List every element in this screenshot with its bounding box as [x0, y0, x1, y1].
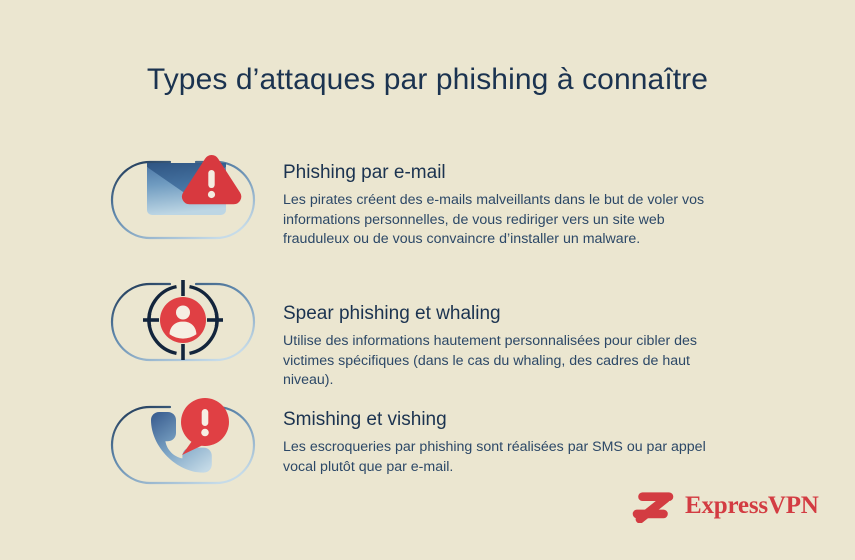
- item-body: Les pirates créent des e-mails malveilla…: [283, 191, 731, 250]
- phone-handset-with-bubble-icon: [110, 393, 256, 493]
- expressvpn-e-mark-icon: [632, 489, 676, 523]
- expressvpn-logo: ExpressVPN: [632, 487, 807, 525]
- envelope-with-alert-icon: [110, 148, 256, 248]
- crosshair-with-person-icon: [110, 270, 256, 370]
- alert-speech-bubble-icon: [181, 398, 229, 455]
- list-item: Spear phishing et whaling Utilise des in…: [0, 270, 855, 390]
- target-person-icon: [110, 270, 256, 370]
- item-text-block: Smishing et vishing Les escroqueries par…: [283, 407, 733, 477]
- item-heading: Phishing par e-mail: [283, 160, 733, 185]
- list-item: Phishing par e-mail Les pirates créent d…: [0, 148, 855, 268]
- email-warning-icon: [110, 148, 256, 248]
- item-text-block: Phishing par e-mail Les pirates créent d…: [283, 160, 733, 250]
- item-heading: Spear phishing et whaling: [283, 301, 733, 326]
- item-heading: Smishing et vishing: [283, 407, 733, 432]
- item-body: Les escroqueries par phishing sont réali…: [283, 438, 731, 477]
- page-title: Types d’attaques par phishing à connaîtr…: [0, 60, 855, 100]
- item-body: Utilise des informations hautement perso…: [283, 332, 731, 391]
- item-text-block: Spear phishing et whaling Utilise des in…: [283, 301, 733, 391]
- phone-alert-icon: [110, 393, 256, 493]
- expressvpn-wordmark: ExpressVPN: [685, 493, 819, 519]
- infographic-canvas: Types d’attaques par phishing à connaîtr…: [0, 0, 855, 560]
